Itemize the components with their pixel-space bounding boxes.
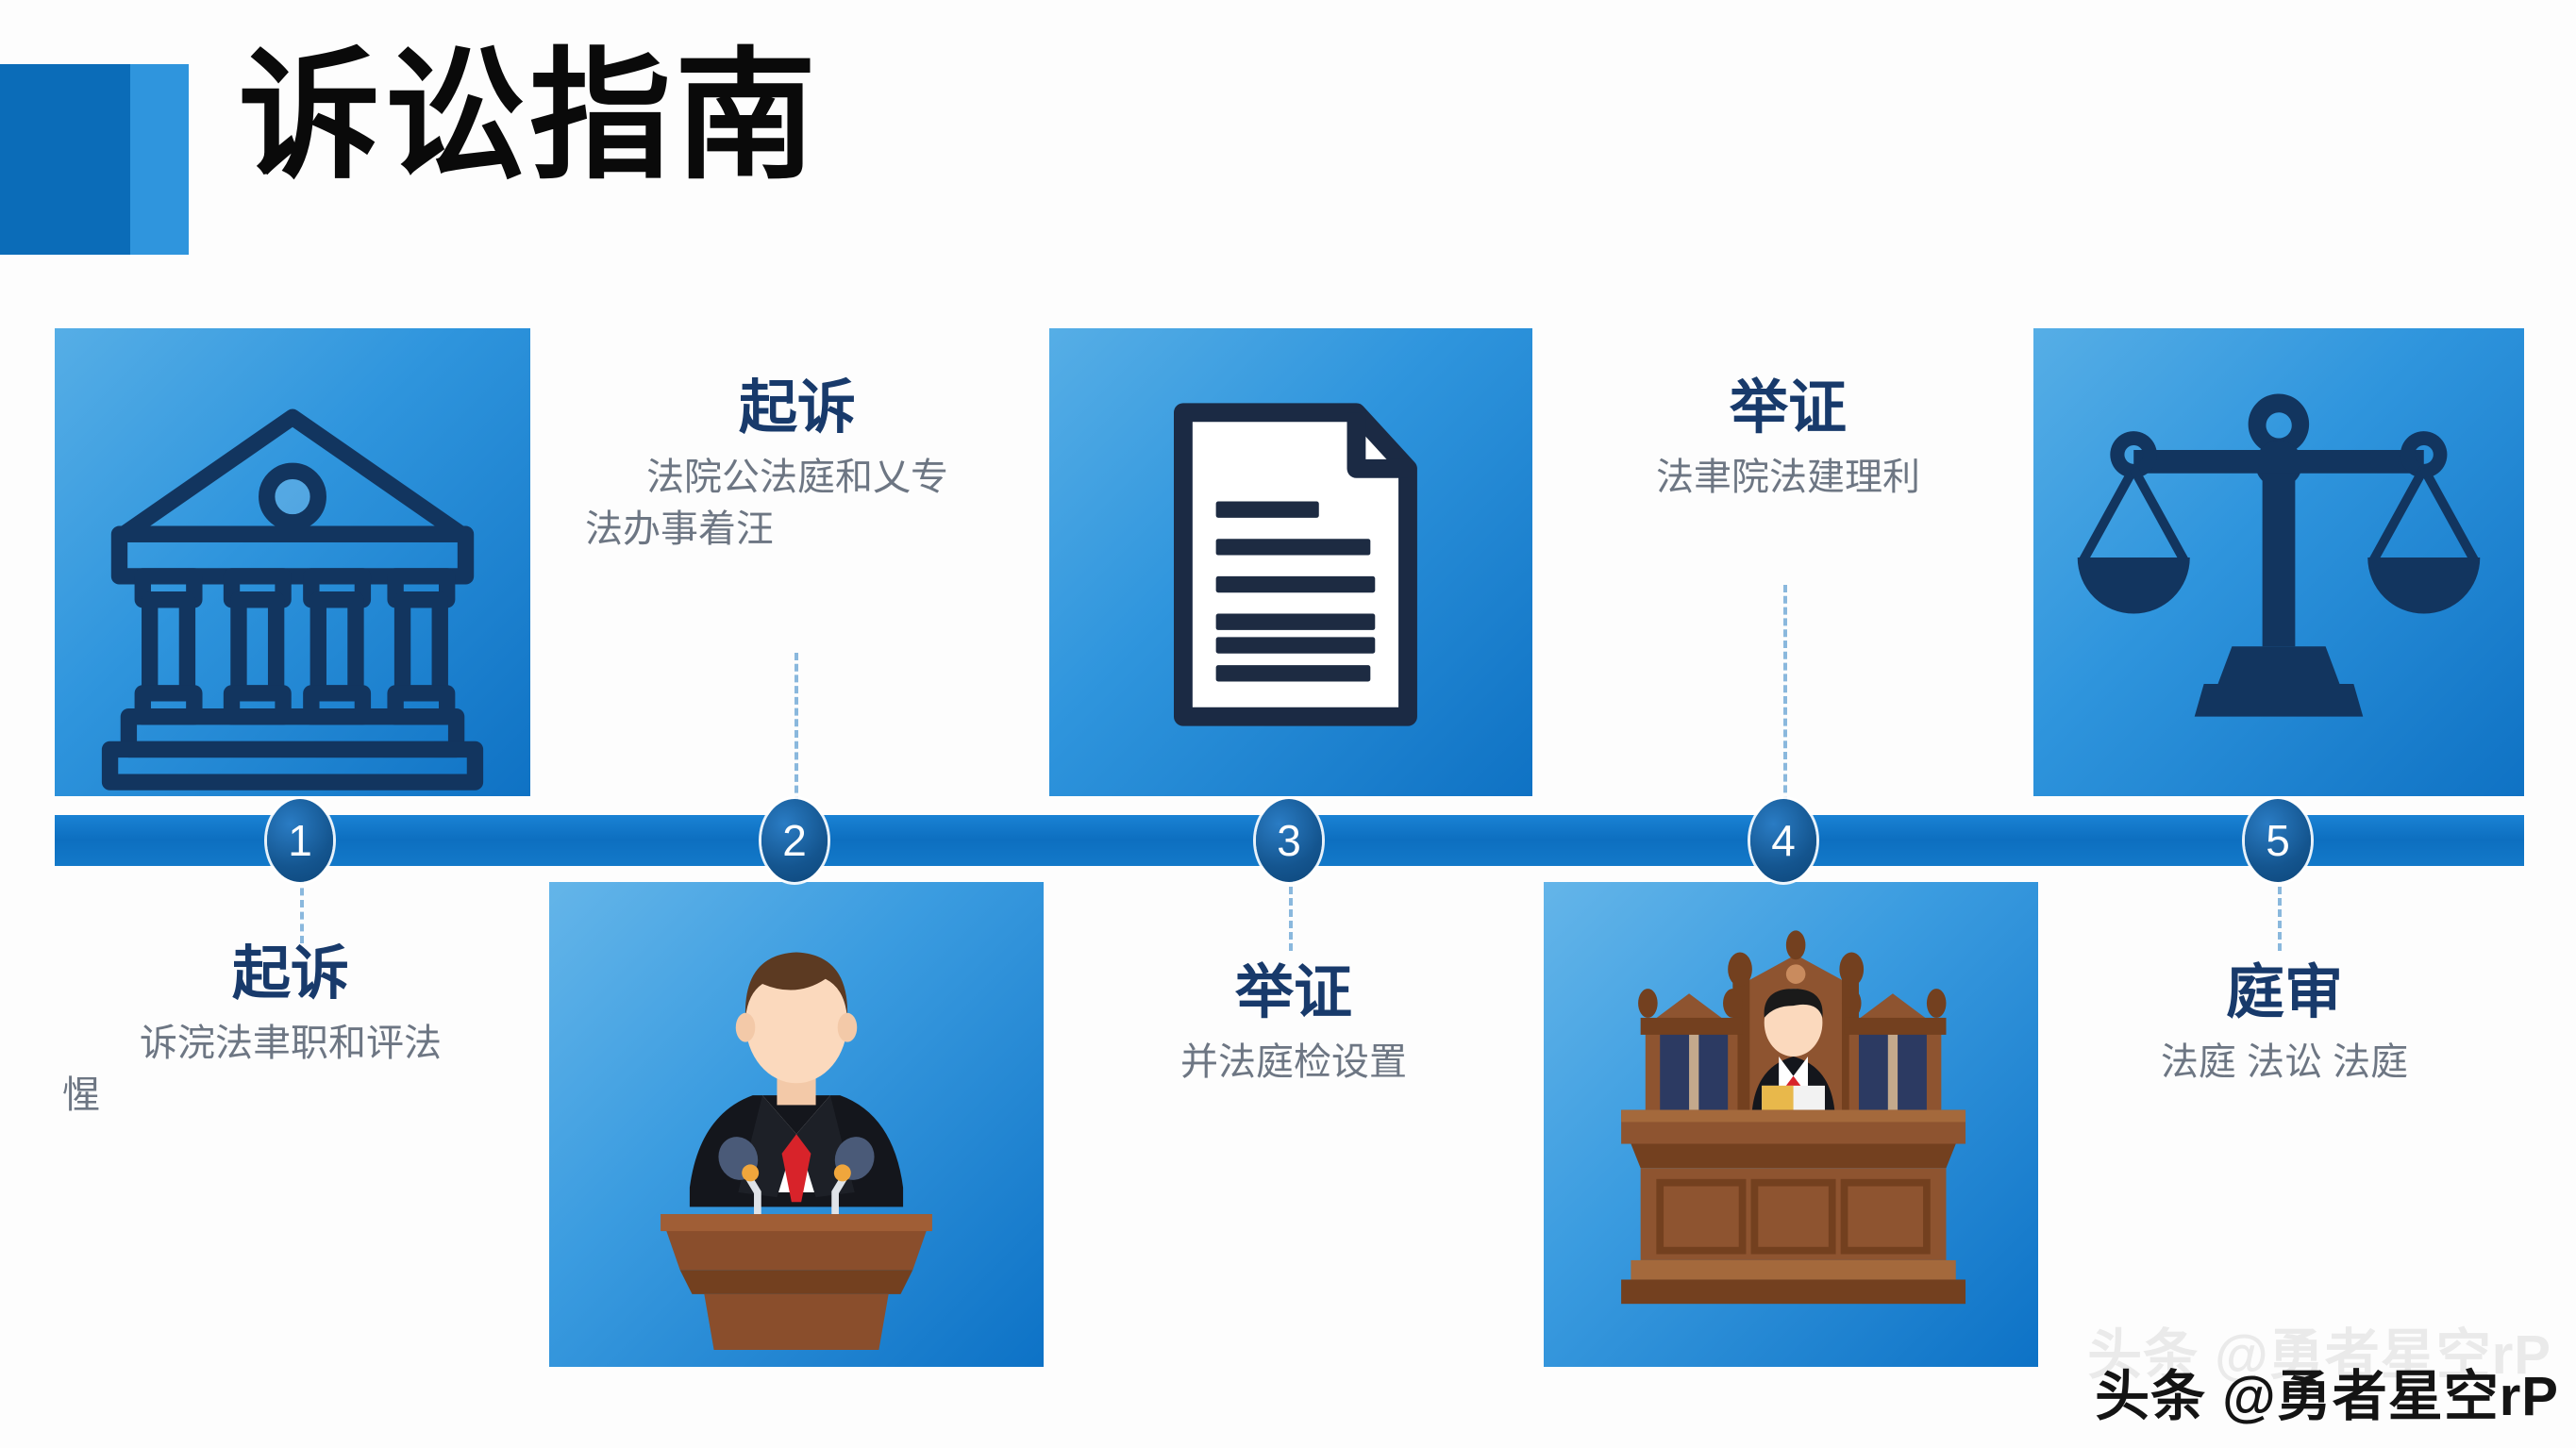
tile-step-4-judge-bench[interactable]: [1544, 882, 2038, 1367]
scales-of-justice-icon: [2033, 328, 2524, 796]
timeline-node-5[interactable]: 5: [2245, 799, 2311, 882]
step-2-text: 起诉 法院公法庭和乂专 法办事着汪: [540, 377, 1055, 556]
step-1-text: 起诉 诉浣法聿职和评法 惺: [26, 943, 555, 1122]
watermark: 头条 @勇者星空rP: [2095, 1352, 2559, 1431]
courthouse-icon: [55, 328, 530, 796]
tile-step-2-podium[interactable]: [549, 882, 1044, 1367]
step-5-text: 庭审 法庭 法讼 法庭: [2027, 962, 2542, 1089]
page-title: 诉讼指南: [239, 45, 820, 187]
infographic-canvas: 诉讼指南 1 2 3 4 5: [0, 0, 2576, 1448]
step-1-desc-line2: 惺: [26, 1070, 555, 1122]
tile-step-1-courthouse[interactable]: [55, 328, 530, 796]
step-4-desc-line1: 法聿院法建理利: [1531, 452, 2046, 504]
step-2-title: 起诉: [540, 377, 1055, 439]
step-5-title: 庭审: [2027, 962, 2542, 1024]
step-3-desc-line1: 并法庭检设置: [1036, 1037, 1551, 1089]
step-2-desc-line2: 法办事着汪: [540, 504, 1055, 556]
judge-bench-icon: [1544, 882, 2038, 1367]
step-3-title: 举证: [1036, 962, 1551, 1024]
step-4-title: 举证: [1531, 377, 2046, 439]
accent-dark-panel: [0, 64, 130, 255]
connector-step-4: [1783, 585, 1787, 815]
timeline-node-2[interactable]: 2: [761, 799, 828, 882]
title-accent-block: [0, 64, 189, 255]
step-3-text: 举证 并法庭检设置: [1036, 962, 1551, 1089]
document-icon: [1049, 328, 1532, 796]
tile-step-3-document[interactable]: [1049, 328, 1532, 796]
speaker-podium-icon: [549, 882, 1044, 1367]
timeline-node-1[interactable]: 1: [267, 799, 333, 882]
connector-step-2: [795, 653, 798, 815]
step-2-desc-line1: 法院公法庭和乂专: [540, 452, 1055, 504]
step-1-title: 起诉: [26, 943, 555, 1005]
timeline-node-3[interactable]: 3: [1256, 799, 1322, 882]
step-4-text: 举证 法聿院法建理利: [1531, 377, 2046, 504]
step-1-desc-line1: 诉浣法聿职和评法: [26, 1018, 555, 1070]
timeline-node-4[interactable]: 4: [1750, 799, 1816, 882]
accent-light-panel: [130, 64, 189, 255]
tile-step-5-scales[interactable]: [2033, 328, 2524, 796]
step-5-desc-line1: 法庭 法讼 法庭: [2027, 1037, 2542, 1089]
